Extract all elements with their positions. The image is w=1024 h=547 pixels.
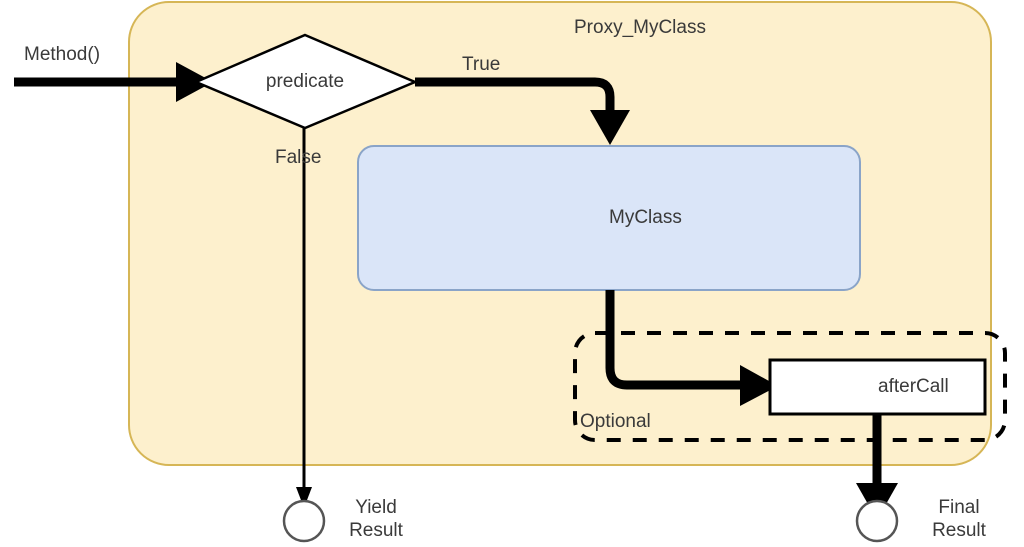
predicate-node-label: predicate	[266, 70, 344, 93]
proxy-container-label: Proxy_MyClass	[574, 16, 706, 39]
final-result-label-line2: Result	[932, 519, 986, 542]
diagram-canvas: Method() Proxy_MyClass True False predic…	[0, 0, 1024, 547]
entry-edge-label: Method()	[24, 43, 100, 66]
aftercall-node-label: afterCall	[878, 375, 949, 398]
entry-arrow	[14, 62, 213, 102]
final-result-circle-shape[interactable]	[857, 501, 897, 541]
flowchart-graphic	[0, 0, 1024, 547]
final-result-label-line1: Final	[938, 496, 979, 519]
yield-result-label-line2: Result	[349, 519, 403, 542]
true-edge-label: True	[462, 53, 500, 76]
optional-group-label: Optional	[580, 410, 651, 433]
yield-result-label-line1: Yield	[355, 496, 397, 519]
myclass-node-label: MyClass	[609, 206, 682, 229]
yield-result-circle-shape[interactable]	[284, 501, 324, 541]
false-edge-label: False	[275, 146, 321, 169]
